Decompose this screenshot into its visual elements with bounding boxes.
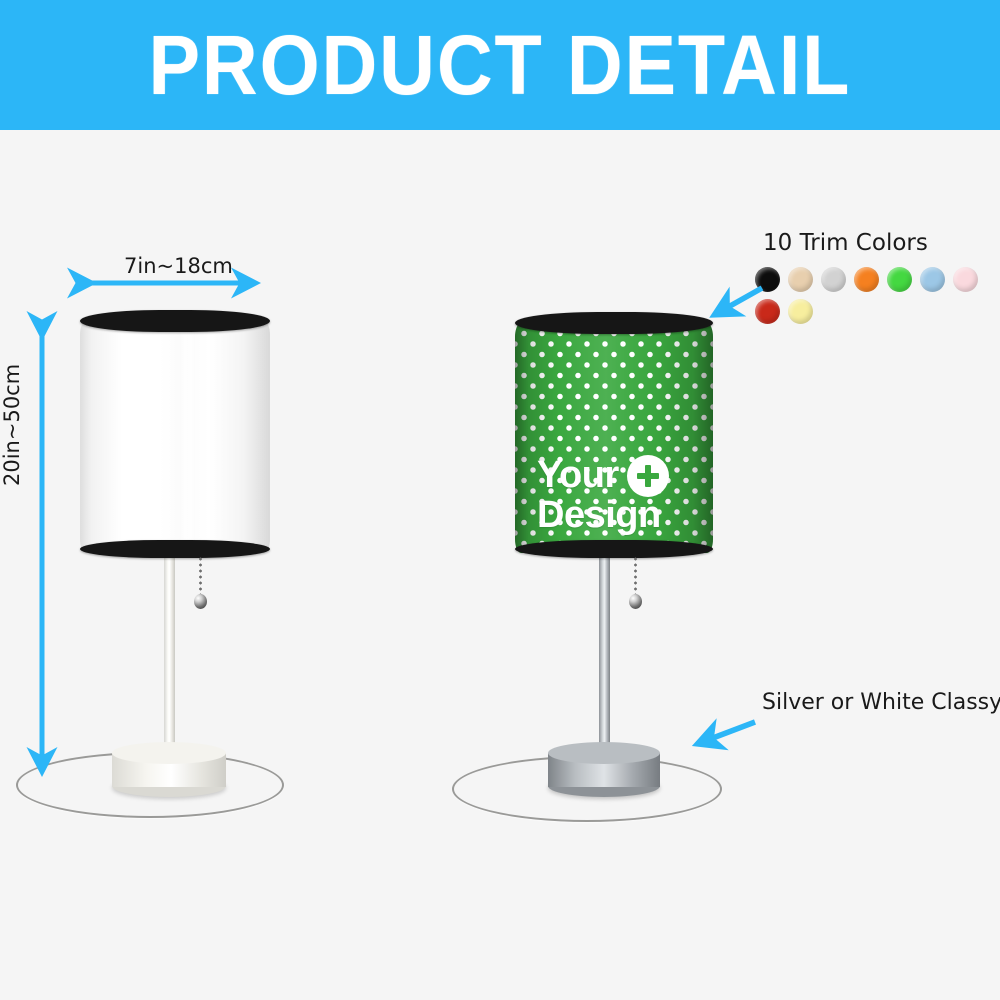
shade-body-white [80, 321, 270, 553]
shade-trim-bottom-white [80, 540, 270, 558]
shade-trim-bottom-green [515, 540, 713, 558]
base-top-white [112, 742, 226, 764]
plus-circle-icon[interactable] [627, 455, 669, 497]
lamp-shade-green: Your Design [515, 312, 713, 558]
lamp-base-silver [548, 742, 660, 798]
trim-swatch-pink[interactable] [953, 267, 978, 292]
design-row-top: Your [537, 455, 669, 497]
pull-chain-bead-silver[interactable] [629, 594, 642, 609]
shade-trim-top-white [80, 310, 270, 332]
trim-color-swatch-list [755, 267, 1000, 324]
trim-swatch-red[interactable] [755, 299, 780, 324]
width-dimension-label: 7in~18cm [124, 254, 233, 278]
trim-swatch-green[interactable] [887, 267, 912, 292]
product-detail-page: PRODUCT DETAIL [0, 0, 1000, 1000]
trim-swatch-black[interactable] [755, 267, 780, 292]
shade-body-green: Your Design [515, 323, 713, 553]
lamp-base-white [112, 742, 226, 798]
page-header-banner: PRODUCT DETAIL [0, 0, 1000, 130]
base-finish-pointer-arrow [697, 722, 755, 744]
lamp-pole-silver [599, 548, 610, 760]
height-dimension-label: 20in~50cm [0, 364, 24, 486]
pull-chain-bead-white[interactable] [194, 594, 207, 609]
design-row-bottom: Design [537, 497, 661, 534]
page-title: PRODUCT DETAIL [149, 23, 852, 107]
shade-gloss-highlight [179, 321, 196, 553]
lamp-shade-white [80, 310, 270, 558]
base-finish-label: Silver or White Classy [762, 690, 1000, 715]
trim-swatch-tan[interactable] [788, 267, 813, 292]
design-text-line1: Your [537, 457, 619, 494]
trim-swatch-light-blue[interactable] [920, 267, 945, 292]
shade-trim-top-green [515, 312, 713, 334]
trim-swatch-orange[interactable] [854, 267, 879, 292]
trim-swatch-yellow[interactable] [788, 299, 813, 324]
lamp-pole-white [164, 548, 175, 758]
design-text-line2: Design [537, 497, 661, 534]
custom-design-area[interactable]: Your Design [515, 455, 713, 534]
trim-swatch-gray[interactable] [821, 267, 846, 292]
base-top-silver [548, 742, 660, 764]
trim-colors-heading: 10 Trim Colors [763, 230, 928, 256]
